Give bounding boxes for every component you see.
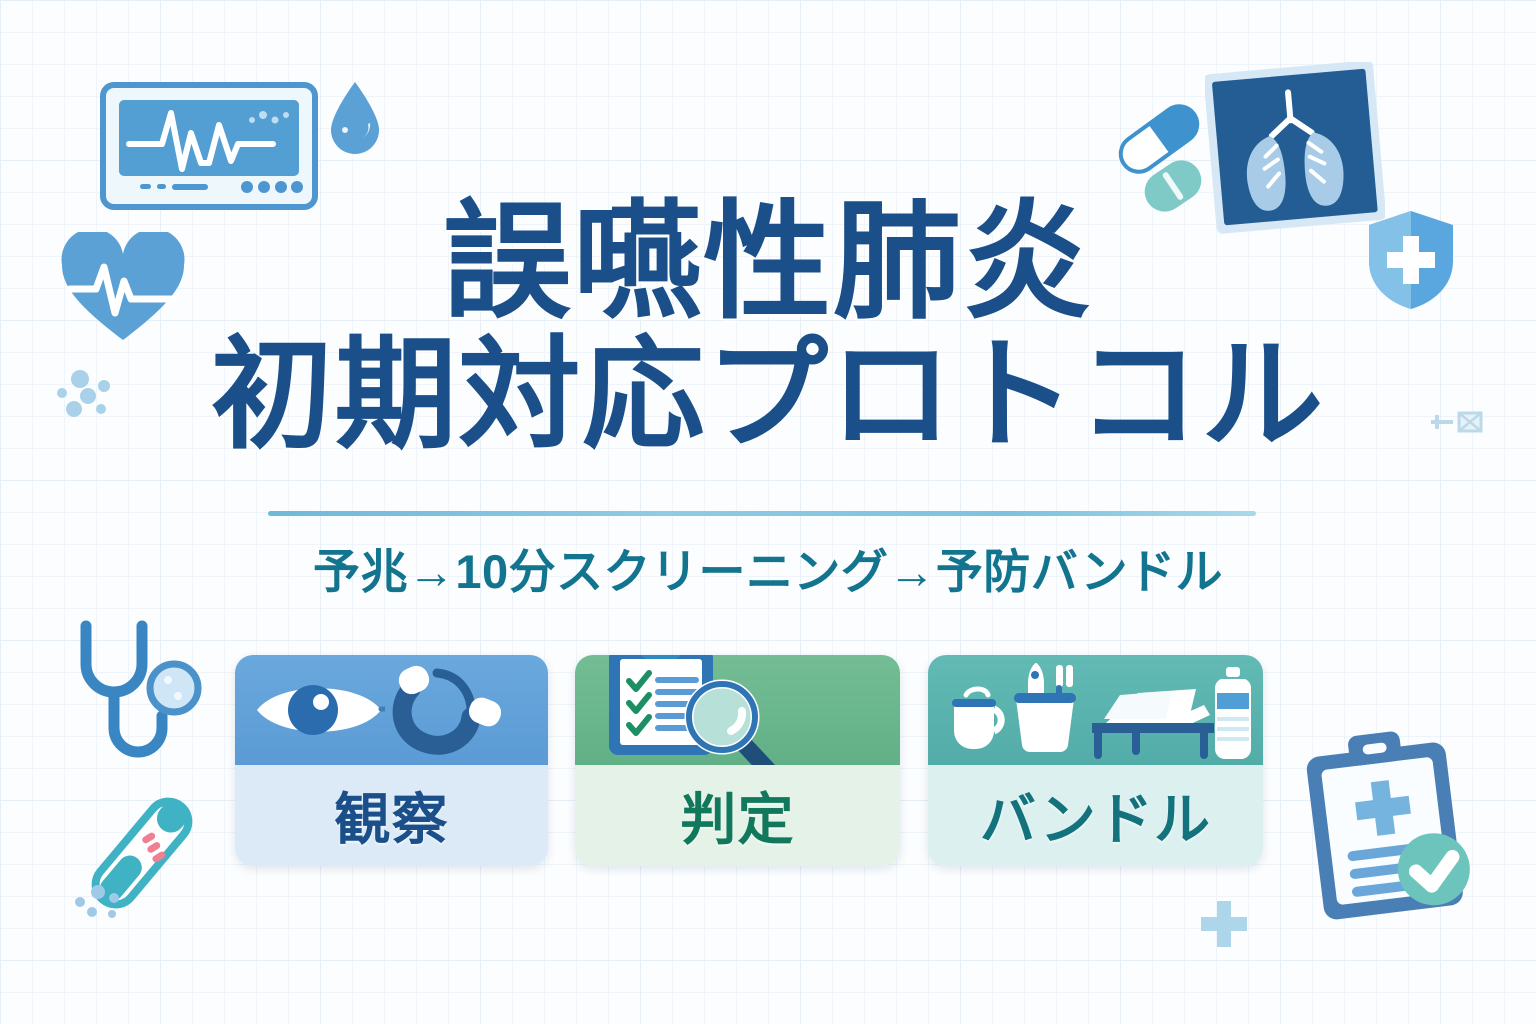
step-card-bundle[interactable]: バンドル <box>928 655 1263 866</box>
poster-canvas: 誤嚥性肺炎 初期対応プロトコル 予兆→10分スクリーニング→予防バンドル <box>0 0 1536 1024</box>
step-card-assessment-label: 判定 <box>575 765 900 866</box>
magnifier-icon <box>683 677 779 765</box>
step-card-assessment[interactable]: 判定 <box>575 655 900 866</box>
step-card-assessment-header <box>575 655 900 765</box>
step-card-observation-header <box>235 655 548 765</box>
cup-icon <box>940 681 1006 751</box>
stethoscope-icon <box>385 663 523 765</box>
step-card-bundle-label: バンドル <box>928 765 1263 866</box>
step-card-bundle-header <box>928 655 1263 765</box>
ecg-monitor-icon <box>100 82 318 210</box>
small-cross-icon <box>1198 898 1250 950</box>
hospital-bed-icon <box>1076 675 1222 763</box>
eye-icon <box>253 675 385 745</box>
water-bottle-icon <box>1211 667 1255 763</box>
step-card-observation[interactable]: 観察 <box>235 655 548 866</box>
page-title-line-2: 初期対応プロトコル <box>0 333 1536 457</box>
water-drop-icon <box>327 80 383 156</box>
step-card-list: 観察 <box>0 655 1536 870</box>
dots-cluster-icon <box>70 880 134 924</box>
toothbrush-cup-icon <box>1006 661 1086 753</box>
title-divider <box>268 511 1256 516</box>
page-subtitle: 予兆→10分スクリーニング→予防バンドル <box>0 533 1536 602</box>
poster-headline: 誤嚥性肺炎 初期対応プロトコル <box>0 198 1536 457</box>
step-card-observation-label: 観察 <box>235 765 548 866</box>
page-title-line-1: 誤嚥性肺炎 <box>0 198 1536 329</box>
